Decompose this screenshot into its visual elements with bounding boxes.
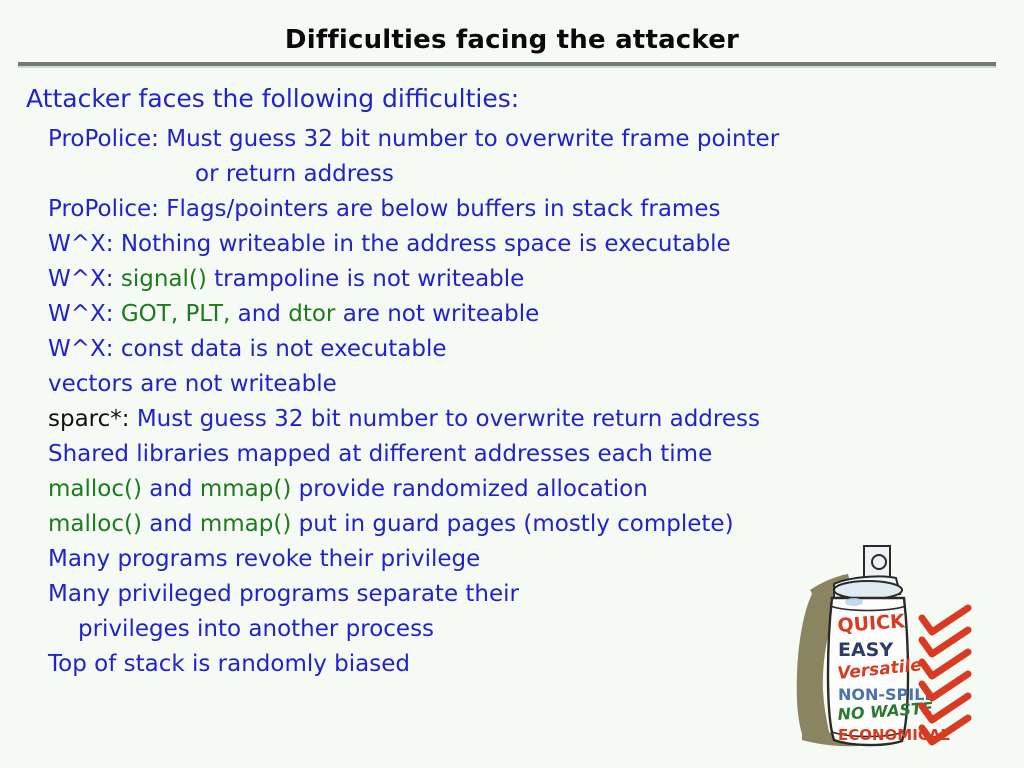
list-item: sparc*: Must guess 32 bit number to over… xyxy=(48,402,1024,437)
list-item-text: sparc*: xyxy=(48,406,130,432)
list-item-text: dtor xyxy=(288,301,335,327)
can-highlight xyxy=(845,598,863,606)
list-item-text: W^X: Nothing writeable in the address sp… xyxy=(48,231,731,257)
page-title: Difficulties facing the attacker xyxy=(0,25,1024,55)
list-item: W^X: GOT, PLT, and dtor are not writeabl… xyxy=(48,297,1024,332)
list-item-text: Many programs revoke their privilege xyxy=(48,546,480,572)
list-item-text: trampoline is not writeable xyxy=(207,266,525,292)
can-label: EASY xyxy=(838,639,893,661)
checkmark-icon xyxy=(922,608,968,632)
list-item-text: mmap() xyxy=(200,511,291,537)
list-item-text: ProPolice: Flags/pointers are below buff… xyxy=(48,196,720,222)
list-item-text: privileges into another process xyxy=(78,616,434,642)
slide-canvas: Difficulties facing the attacker Attacke… xyxy=(0,0,1024,768)
list-item-text: and xyxy=(142,476,200,502)
list-item: W^X: Nothing writeable in the address sp… xyxy=(48,227,1024,262)
can-cap-top xyxy=(834,581,902,599)
list-item-text: Shared libraries mapped at different add… xyxy=(48,441,712,467)
lead-text: Attacker faces the following difficultie… xyxy=(26,82,1024,116)
list-item-text: malloc() xyxy=(48,511,142,537)
list-item-text: Many privileged programs separate their xyxy=(48,581,519,607)
list-item: Shared libraries mapped at different add… xyxy=(48,437,1024,472)
list-item: ProPolice: Flags/pointers are below buff… xyxy=(48,192,1024,227)
list-item-text: W^X: xyxy=(48,301,121,327)
spray-can-illustration: QUICKEASYVersatileNON-SPILLNO WASTEECONO… xyxy=(772,532,1020,760)
list-item-text: provide randomized allocation xyxy=(291,476,647,502)
list-item-text: vectors are not writeable xyxy=(48,371,337,397)
list-item-text: and xyxy=(230,301,288,327)
list-item: or return address xyxy=(195,157,1024,192)
list-item-text: and xyxy=(142,511,200,537)
list-item-text: GOT, PLT, xyxy=(121,301,230,327)
list-item-text: malloc() xyxy=(48,476,142,502)
title-divider xyxy=(18,62,996,68)
list-item: W^X: signal() trampoline is not writeabl… xyxy=(48,262,1024,297)
list-item-text: W^X: const data is not executable xyxy=(48,336,447,362)
spray-can-icon: QUICKEASYVersatileNON-SPILLNO WASTEECONO… xyxy=(772,532,1020,760)
checkmark-group xyxy=(922,608,968,742)
list-item-text: Must guess 32 bit number to overwrite re… xyxy=(130,406,760,432)
list-item-text: W^X: xyxy=(48,266,121,292)
list-item-text: signal() xyxy=(121,266,207,292)
list-item: malloc() and mmap() provide randomized a… xyxy=(48,472,1024,507)
list-item: vectors are not writeable xyxy=(48,367,1024,402)
list-item-text: are not writeable xyxy=(335,301,539,327)
list-item: ProPolice: Must guess 32 bit number to o… xyxy=(48,122,1024,157)
list-item-text: or return address xyxy=(195,161,394,187)
list-item: W^X: const data is not executable xyxy=(48,332,1024,367)
list-item-text: put in guard pages (mostly complete) xyxy=(291,511,733,537)
list-item-text: Top of stack is randomly biased xyxy=(48,651,410,677)
list-item-text: mmap() xyxy=(200,476,291,502)
list-item-text: ProPolice: Must guess 32 bit number to o… xyxy=(48,126,779,152)
